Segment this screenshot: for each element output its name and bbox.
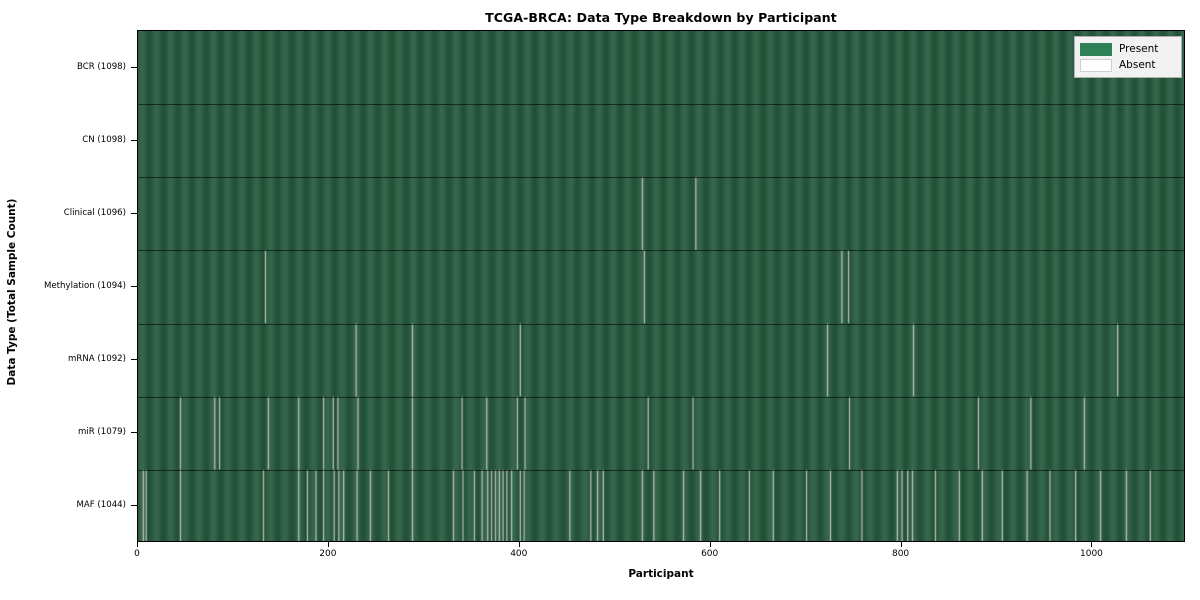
y-tick-mark [131, 67, 137, 68]
legend-item-absent: Absent [1080, 57, 1176, 73]
x-tick-label: 600 [701, 549, 718, 559]
chart-title: TCGA-BRCA: Data Type Breakdown by Partic… [137, 10, 1185, 25]
y-tick-mark [131, 140, 137, 141]
heatmap-row-separator [138, 397, 1184, 398]
legend-item-present: Present [1080, 41, 1176, 57]
y-tick-mark [131, 213, 137, 214]
x-tick-mark [1091, 542, 1092, 547]
x-tick-label: 800 [892, 549, 909, 559]
heatmap-row-separator [138, 177, 1184, 178]
chart-figure: TCGA-BRCA: Data Type Breakdown by Partic… [0, 0, 1200, 600]
x-tick-mark [901, 542, 902, 547]
x-tick-mark [328, 542, 329, 547]
y-tick-label-clinical: Clinical (1096) [64, 208, 126, 218]
y-tick-mark [131, 505, 137, 506]
y-axis-tick-labels: BCR (1098)CN (1098)Clinical (1096)Methyl… [0, 0, 126, 600]
heatmap-row-separator [138, 470, 1184, 471]
y-tick-label-mrna: mRNA (1092) [68, 354, 126, 364]
y-tick-mark [131, 286, 137, 287]
y-tick-mark [131, 359, 137, 360]
x-tick-mark [519, 542, 520, 547]
heatmap-row-separator [138, 250, 1184, 251]
x-axis-label: Participant [137, 568, 1185, 580]
x-tick-mark [710, 542, 711, 547]
legend-label-absent: Absent [1119, 59, 1156, 71]
heatmap-plot-area[interactable] [137, 30, 1185, 542]
y-tick-label-methylation: Methylation (1094) [44, 281, 126, 291]
legend-swatch-present [1080, 43, 1112, 56]
legend-label-present: Present [1119, 43, 1158, 55]
heatmap-canvas [138, 31, 1185, 542]
y-tick-mark [131, 432, 137, 433]
y-tick-label-cn: CN (1098) [82, 135, 126, 145]
x-tick-label: 200 [319, 549, 336, 559]
y-tick-label-bcr: BCR (1098) [77, 62, 126, 72]
x-tick-label: 400 [510, 549, 527, 559]
x-tick-mark [137, 542, 138, 547]
heatmap-row-separator [138, 324, 1184, 325]
x-tick-label: 1000 [1080, 549, 1103, 559]
legend-swatch-absent [1080, 59, 1112, 72]
chart-legend[interactable]: Present Absent [1074, 36, 1182, 78]
x-tick-label: 0 [134, 549, 140, 559]
heatmap-row-separator [138, 104, 1184, 105]
y-tick-label-mir: miR (1079) [78, 427, 126, 437]
y-tick-label-maf: MAF (1044) [76, 500, 126, 510]
